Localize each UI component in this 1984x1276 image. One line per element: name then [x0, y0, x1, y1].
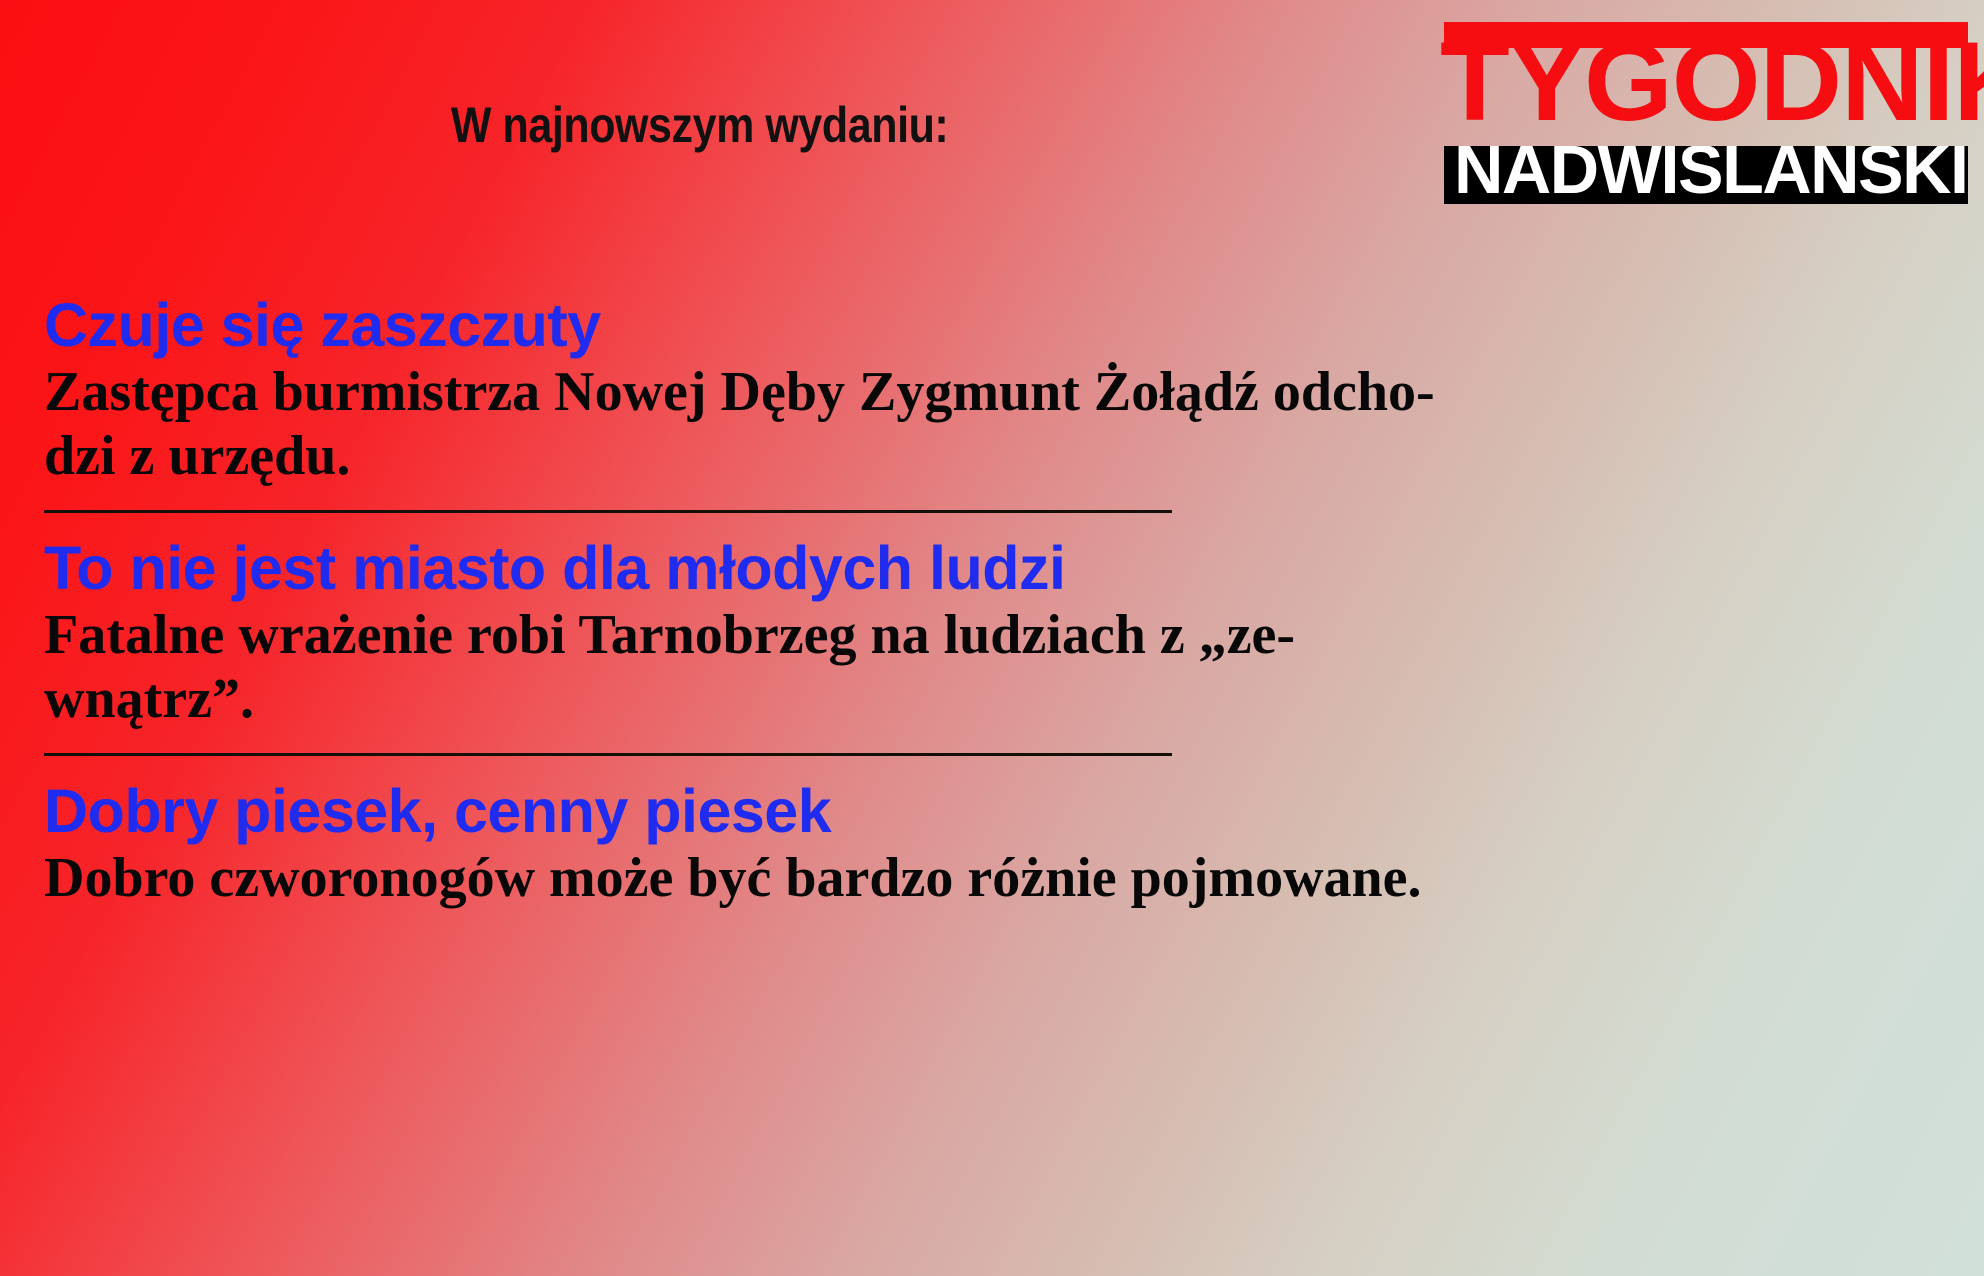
article-lede-line: wnątrz”.	[44, 667, 1949, 731]
article-lede-line: Fatalne wrażenie robi Tarnobrzeg na ludz…	[44, 603, 1949, 667]
article-item: Dobry piesek, cenny piesek Dobro czworon…	[44, 778, 1964, 910]
article-headline[interactable]: To nie jest miasto dla młodych ludzi	[44, 535, 1964, 601]
article-item: Czuje się zaszczuty Zastępca burmistrza …	[44, 292, 1964, 488]
masthead-line2-text: NADWIŚLAŃSKI	[1454, 146, 1967, 204]
article-lede: Fatalne wrażenie robi Tarnobrzeg na ludz…	[44, 603, 1949, 731]
masthead-line1-text: TYGODNIK	[1440, 26, 1984, 138]
article-divider	[44, 753, 1172, 756]
masthead-line2: NADWIŚLAŃSKI	[1444, 146, 1968, 204]
article-headline[interactable]: Dobry piesek, cenny piesek	[44, 778, 1964, 844]
article-list: Czuje się zaszczuty Zastępca burmistrza …	[44, 292, 1964, 910]
article-lede: Zastępca burmistrza Nowej Dęby Zygmunt Ż…	[44, 360, 1949, 488]
article-lede-line: Zastępca burmistrza Nowej Dęby Zygmunt Ż…	[44, 360, 1949, 424]
masthead-line1: TYGODNIK	[1444, 46, 1968, 142]
article-lede-line: dzi z urzędu.	[44, 424, 1949, 488]
article-lede-line: Dobro czworonogów może być bardzo różnie…	[44, 846, 1949, 910]
article-item: To nie jest miasto dla młodych ludzi Fat…	[44, 535, 1964, 731]
article-divider	[44, 510, 1172, 513]
article-lede: Dobro czworonogów może być bardzo różnie…	[44, 846, 1949, 910]
article-headline[interactable]: Czuje się zaszczuty	[44, 292, 1964, 358]
masthead-logo: TYGODNIK NADWIŚLAŃSKI	[1444, 22, 1968, 204]
slide-background: W najnowszym wydaniu: TYGODNIK NADWIŚLAŃ…	[0, 0, 1984, 1276]
